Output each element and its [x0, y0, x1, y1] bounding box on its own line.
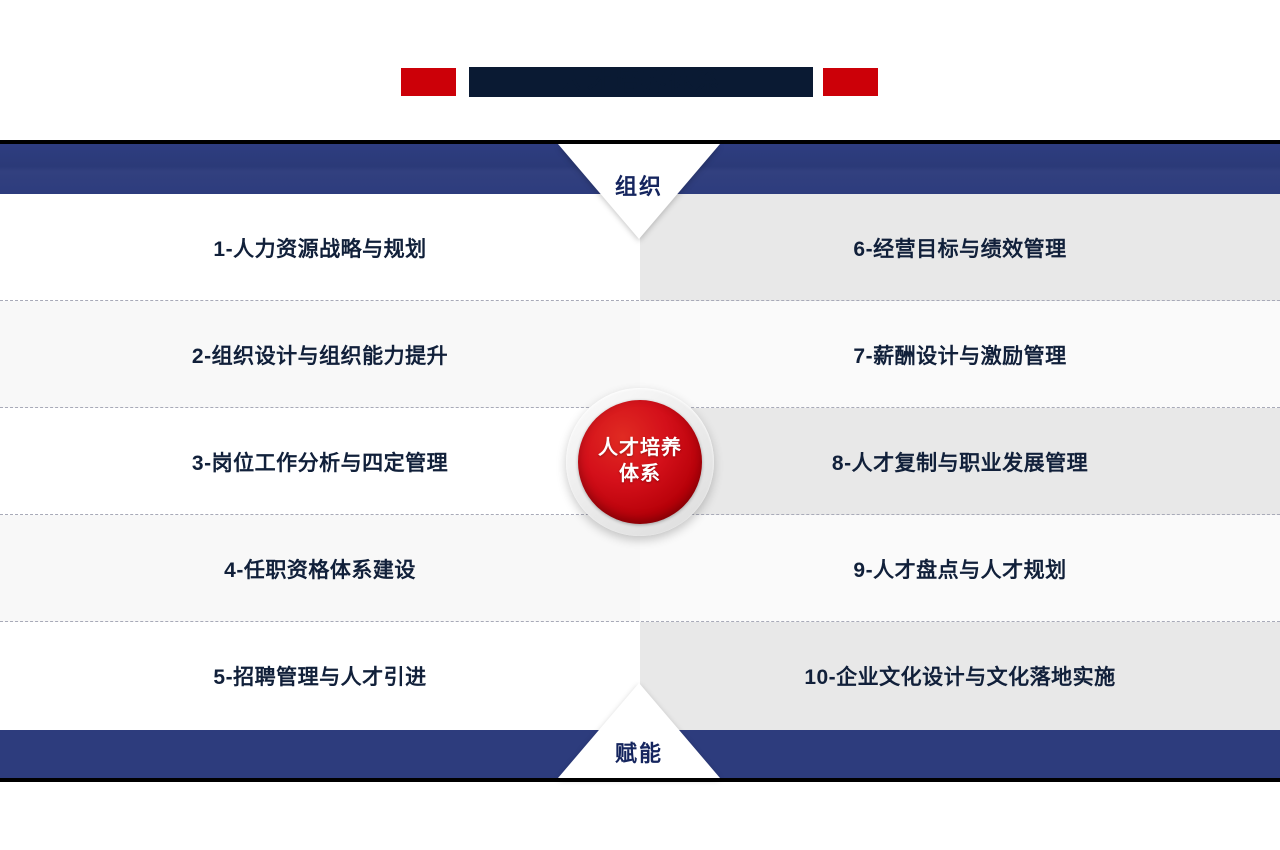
- module-cell-8[interactable]: 8-人才复制与职业发展管理: [640, 408, 1280, 515]
- module-cell-3[interactable]: 3-岗位工作分析与四定管理: [0, 408, 640, 515]
- banner-bottom-notch: 赋能: [558, 683, 720, 778]
- module-label: 1-人力资源战略与规划: [213, 233, 426, 263]
- top-rule: [0, 140, 1280, 144]
- badge-core: 人才培养 体系: [578, 400, 702, 524]
- module-label: 2-组织设计与组织能力提升: [192, 340, 448, 370]
- banner-bottom-label: 赋能: [558, 736, 720, 768]
- module-label: 5-招聘管理与人才引进: [213, 661, 426, 691]
- page-title: 人才培养体系: [560, 70, 722, 95]
- module-cell-9[interactable]: 9-人才盘点与人才规划: [640, 515, 1280, 622]
- module-label: 8-人才复制与职业发展管理: [832, 447, 1088, 477]
- title-bar: 人才培养体系: [469, 67, 813, 97]
- module-cell-2[interactable]: 2-组织设计与组织能力提升: [0, 301, 640, 408]
- module-label: 6-经营目标与绩效管理: [853, 233, 1066, 263]
- row-separator: [0, 300, 1280, 301]
- module-label: 4-任职资格体系建设: [224, 554, 416, 584]
- module-label: 10-企业文化设计与文化落地实施: [804, 661, 1115, 691]
- slide-title: 人才培养体系: [0, 55, 1280, 110]
- module-label: 9-人才盘点与人才规划: [853, 554, 1066, 584]
- module-label: 3-岗位工作分析与四定管理: [192, 447, 448, 477]
- module-cell-4[interactable]: 4-任职资格体系建设: [0, 515, 640, 622]
- badge-label-line1: 人才培养: [598, 436, 682, 462]
- row-separator: [0, 621, 1280, 622]
- center-badge[interactable]: 人才培养 体系: [566, 388, 714, 536]
- module-cell-6[interactable]: 6-经营目标与绩效管理: [640, 194, 1280, 301]
- slide-canvas: 远大方略 远大方略 远大方略 远大方略 远大方略 远大方略 远大方略 人才培养体…: [0, 0, 1280, 850]
- badge-label-line2: 体系: [619, 462, 661, 488]
- bottom-rule: [0, 778, 1280, 782]
- banner-top-notch: 组织: [558, 144, 720, 239]
- title-accent-block-left: [401, 68, 456, 96]
- title-accent-block-right: [823, 68, 878, 96]
- module-label: 7-薪酬设计与激励管理: [853, 340, 1066, 370]
- module-cell-5[interactable]: 5-招聘管理与人才引进: [0, 622, 640, 730]
- module-cell-1[interactable]: 1-人力资源战略与规划: [0, 194, 640, 301]
- banner-top-label: 组织: [558, 169, 720, 201]
- module-cell-10[interactable]: 10-企业文化设计与文化落地实施: [640, 622, 1280, 730]
- module-cell-7[interactable]: 7-薪酬设计与激励管理: [640, 301, 1280, 408]
